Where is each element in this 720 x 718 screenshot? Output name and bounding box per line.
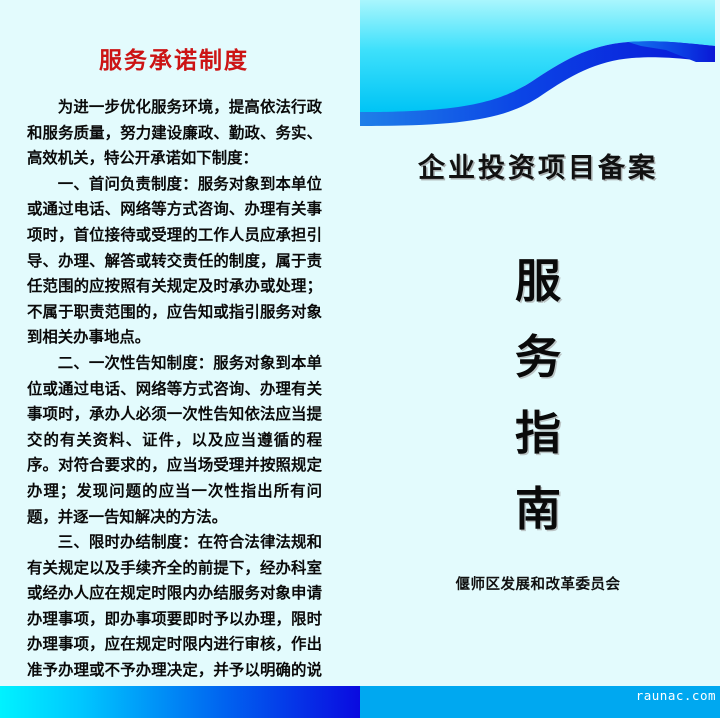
paragraph-item-2: 二、一次性告知制度：服务对象到本单位或通过电话、网络等方式咨询、办理有关事项时，… [27, 351, 322, 530]
footer-bar-left [0, 686, 360, 718]
issuing-authority: 偃师区发展和改革委员会 [356, 578, 720, 593]
site-watermark: raunac.com [636, 690, 716, 703]
vertical-title: 服 务 指 南 [356, 243, 720, 547]
right-column: 企业投资项目备案 服 务 指 南 偃师区发展和改革委员会 [356, 0, 720, 686]
vertical-title-char-4: 南 [356, 471, 720, 547]
vertical-title-char-3: 指 [356, 395, 720, 471]
subject-heading: 企业投资项目备案 [356, 155, 720, 182]
vertical-title-char-2: 务 [356, 319, 720, 395]
paragraph-intro: 为进一步优化服务环境，提高依法行政和服务质量，努力建设廉政、勤政、务实、高效机关… [27, 95, 322, 172]
left-column: 服务承诺制度 为进一步优化服务环境，提高依法行政和服务质量，努力建设廉政、勤政、… [0, 0, 356, 686]
poster-canvas: 服务承诺制度 为进一步优化服务环境，提高依法行政和服务质量，努力建设廉政、勤政、… [0, 0, 720, 718]
service-commitment-body: 为进一步优化服务环境，提高依法行政和服务质量，努力建设廉政、勤政、务实、高效机关… [27, 95, 322, 718]
vertical-title-char-1: 服 [356, 243, 720, 319]
paragraph-item-1: 一、首问负责制度：服务对象到本单位或通过电话、网络等方式咨询、办理有关事项时，首… [27, 172, 322, 351]
page-title: 服务承诺制度 [0, 50, 348, 73]
